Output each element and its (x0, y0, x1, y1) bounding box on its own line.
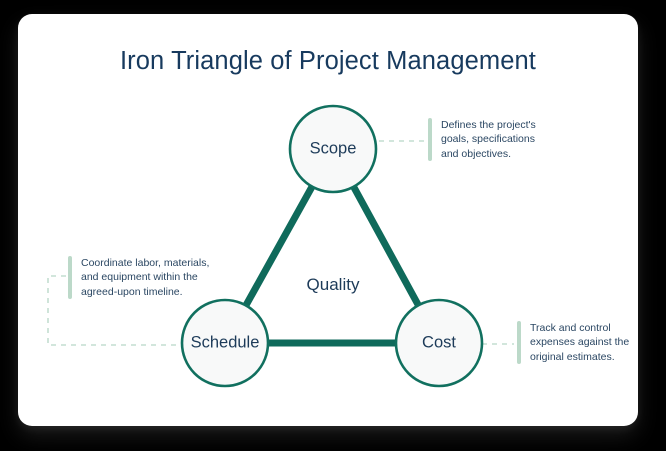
node-label-schedule: Schedule (191, 334, 260, 353)
diagram-card: Iron Triangle of Project Management (18, 14, 638, 426)
annotation-text-scope: Defines the project's goals, specificati… (432, 118, 536, 161)
annotation-scope: Defines the project's goals, specificati… (428, 118, 536, 161)
annotation-schedule: Coordinate labor, materials, and equipme… (68, 256, 209, 299)
annotation-cost: Track and control expenses against the o… (517, 321, 629, 364)
node-label-cost: Cost (422, 334, 456, 353)
annotation-text-cost: Track and control expenses against the o… (521, 321, 629, 364)
node-label-scope: Scope (310, 140, 357, 159)
annotation-text-schedule: Coordinate labor, materials, and equipme… (72, 256, 209, 299)
center-label-quality: Quality (307, 275, 360, 295)
screenshot-stage: Iron Triangle of Project Management (0, 0, 666, 451)
